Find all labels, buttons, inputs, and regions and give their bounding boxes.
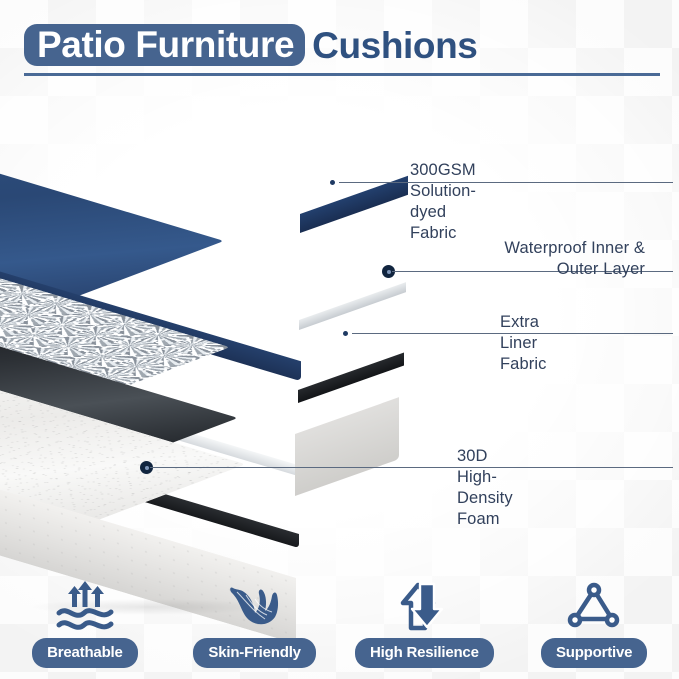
callout-marker-dot bbox=[339, 327, 352, 340]
feature-supportive: Supportive bbox=[509, 580, 679, 668]
feature-label-supportive[interactable]: Supportive bbox=[541, 638, 647, 668]
fabric-right-face bbox=[300, 176, 408, 233]
infographic-page: Patio Furniture Cushions bbox=[0, 0, 679, 679]
callout-label-fabric: 300GSM Solution-dyed Fabric bbox=[410, 160, 476, 244]
feature-badge-row: Breathable Skin-Friendly bbox=[0, 558, 679, 668]
feature-label-skin-friendly[interactable]: Skin-Friendly bbox=[193, 638, 315, 668]
feature-label-breathable[interactable]: Breathable bbox=[32, 638, 138, 668]
title-tail-label: Cushions bbox=[312, 27, 477, 64]
feature-high-resilience: High Resilience bbox=[340, 580, 510, 668]
feature-label-high-resilience[interactable]: High Resilience bbox=[355, 638, 494, 668]
arrows-over-waves-icon bbox=[50, 580, 120, 632]
title-badge-label: Patio Furniture bbox=[37, 26, 294, 63]
page-title: Patio Furniture Cushions bbox=[24, 21, 478, 69]
header: Patio Furniture Cushions bbox=[0, 0, 679, 92]
feather-icon bbox=[220, 580, 290, 632]
triangle-nodes-icon bbox=[559, 580, 629, 632]
up-down-arrows-icon bbox=[389, 580, 459, 632]
title-badge: Patio Furniture bbox=[24, 24, 305, 66]
callout-label-foam: 30D High-Density Foam bbox=[457, 446, 513, 530]
callout-leader-line bbox=[150, 467, 673, 468]
title-underline-rule bbox=[24, 73, 660, 76]
callout-label-liner: Extra Liner Fabric bbox=[500, 312, 546, 375]
callout-leader-line bbox=[339, 182, 673, 183]
foam-right-face bbox=[295, 397, 399, 496]
callout-marker-dot bbox=[326, 176, 339, 189]
feature-skin-friendly: Skin-Friendly bbox=[170, 580, 340, 668]
callout-label-waterproof: Waterproof Inner & Outer Layer bbox=[400, 238, 645, 280]
feature-breathable: Breathable bbox=[0, 580, 170, 668]
